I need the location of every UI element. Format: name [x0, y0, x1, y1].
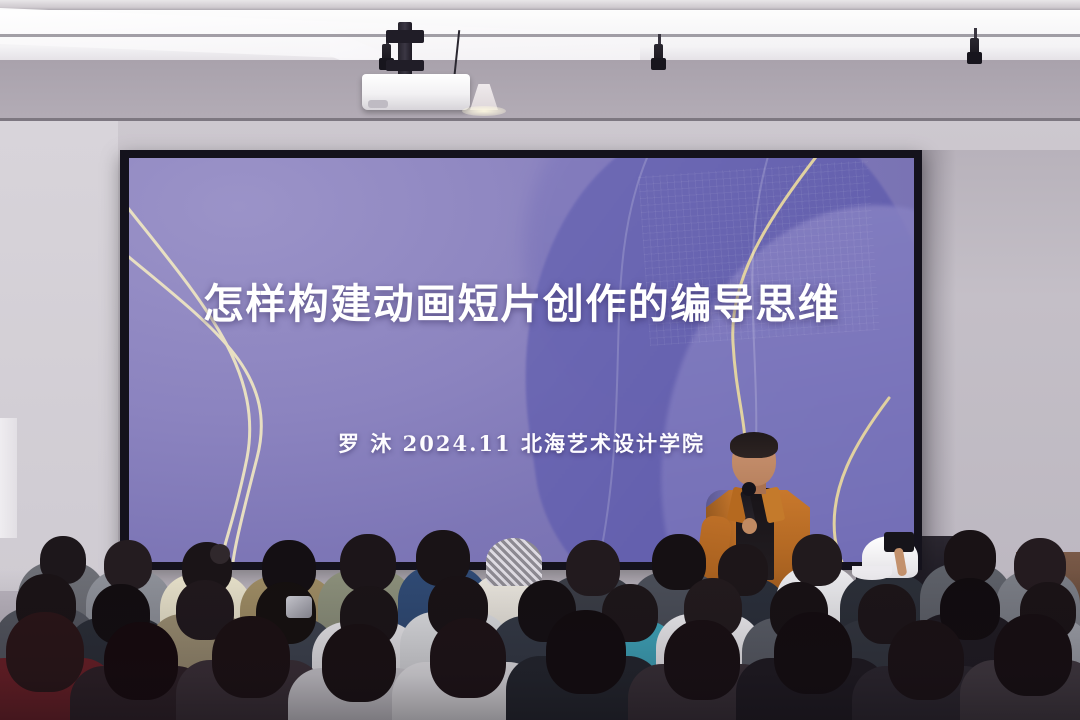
ceiling-rail [0, 34, 1080, 37]
projector-lens [368, 100, 388, 108]
ceiling-spotlight-icon [654, 44, 663, 66]
microphone-capsule [742, 482, 756, 496]
lamp-glow [462, 106, 506, 116]
upper-wall-band [0, 60, 1080, 122]
projector-mount [398, 22, 412, 80]
lecture-hall-photo: 怎样构建动画短片创作的编导思维 罗 沐 2024.11 北海艺术设计学院 [0, 0, 1080, 720]
seated-audience [0, 500, 1080, 720]
slide-title: 怎样构建动画短片创作的编导思维 [129, 284, 914, 325]
ceiling-spotlight-icon [970, 38, 979, 60]
presenter-hair [730, 432, 778, 458]
